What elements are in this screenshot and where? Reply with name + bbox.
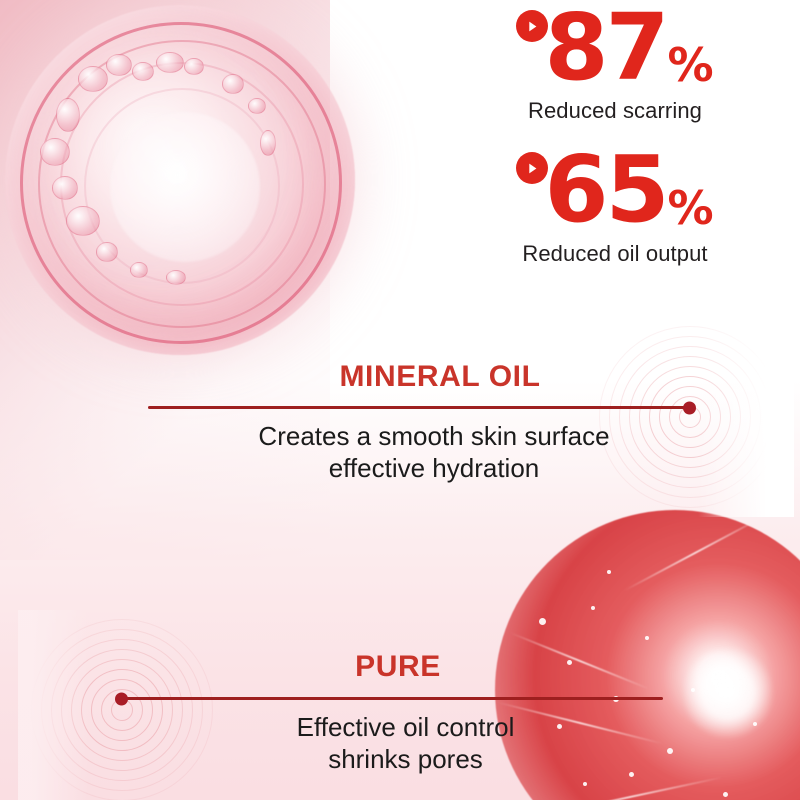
statistics-group: 87 % Reduced scarring 65 % Reduced oil o… <box>440 4 790 289</box>
stat-block-reduced-oil-output: 65 % Reduced oil output <box>440 146 790 266</box>
stat-caption: Reduced oil output <box>440 241 790 267</box>
feature-title: PURE <box>98 650 698 684</box>
divider-endpoint-dot <box>115 692 128 705</box>
stat-value-row: 87 % <box>440 4 790 92</box>
feature-description-line-2: effective hydration <box>138 453 730 485</box>
feature-divider-line <box>148 406 693 409</box>
feature-description-line-2: shrinks pores <box>113 744 698 776</box>
stat-value-row: 65 % <box>440 146 790 234</box>
feature-description-line-1: Effective oil control <box>113 712 698 744</box>
feature-block-mineral-oil: MINERAL OIL Creates a smooth skin surfac… <box>110 360 730 484</box>
stat-value: 87 <box>544 4 666 92</box>
feature-description: Effective oil control shrinks pores <box>113 712 698 775</box>
feature-description-line-1: Creates a smooth skin surface <box>138 421 730 453</box>
stat-caption: Reduced scarring <box>440 98 790 124</box>
product-infographic-poster: 87 % Reduced scarring 65 % Reduced oil o… <box>0 0 800 800</box>
stat-unit: % <box>667 42 713 88</box>
feature-description: Creates a smooth skin surface effective … <box>138 421 730 484</box>
divider-endpoint-dot <box>683 401 696 414</box>
stat-value: 65 <box>544 146 666 234</box>
stat-unit: % <box>667 185 713 231</box>
feature-title: MINERAL OIL <box>150 360 730 394</box>
stat-block-reduced-scarring: 87 % Reduced scarring <box>440 4 790 124</box>
feature-divider-line <box>118 697 663 700</box>
feature-block-pure: PURE Effective oil control shrinks pores <box>78 650 698 775</box>
gel-sphere-decoration <box>0 0 400 410</box>
